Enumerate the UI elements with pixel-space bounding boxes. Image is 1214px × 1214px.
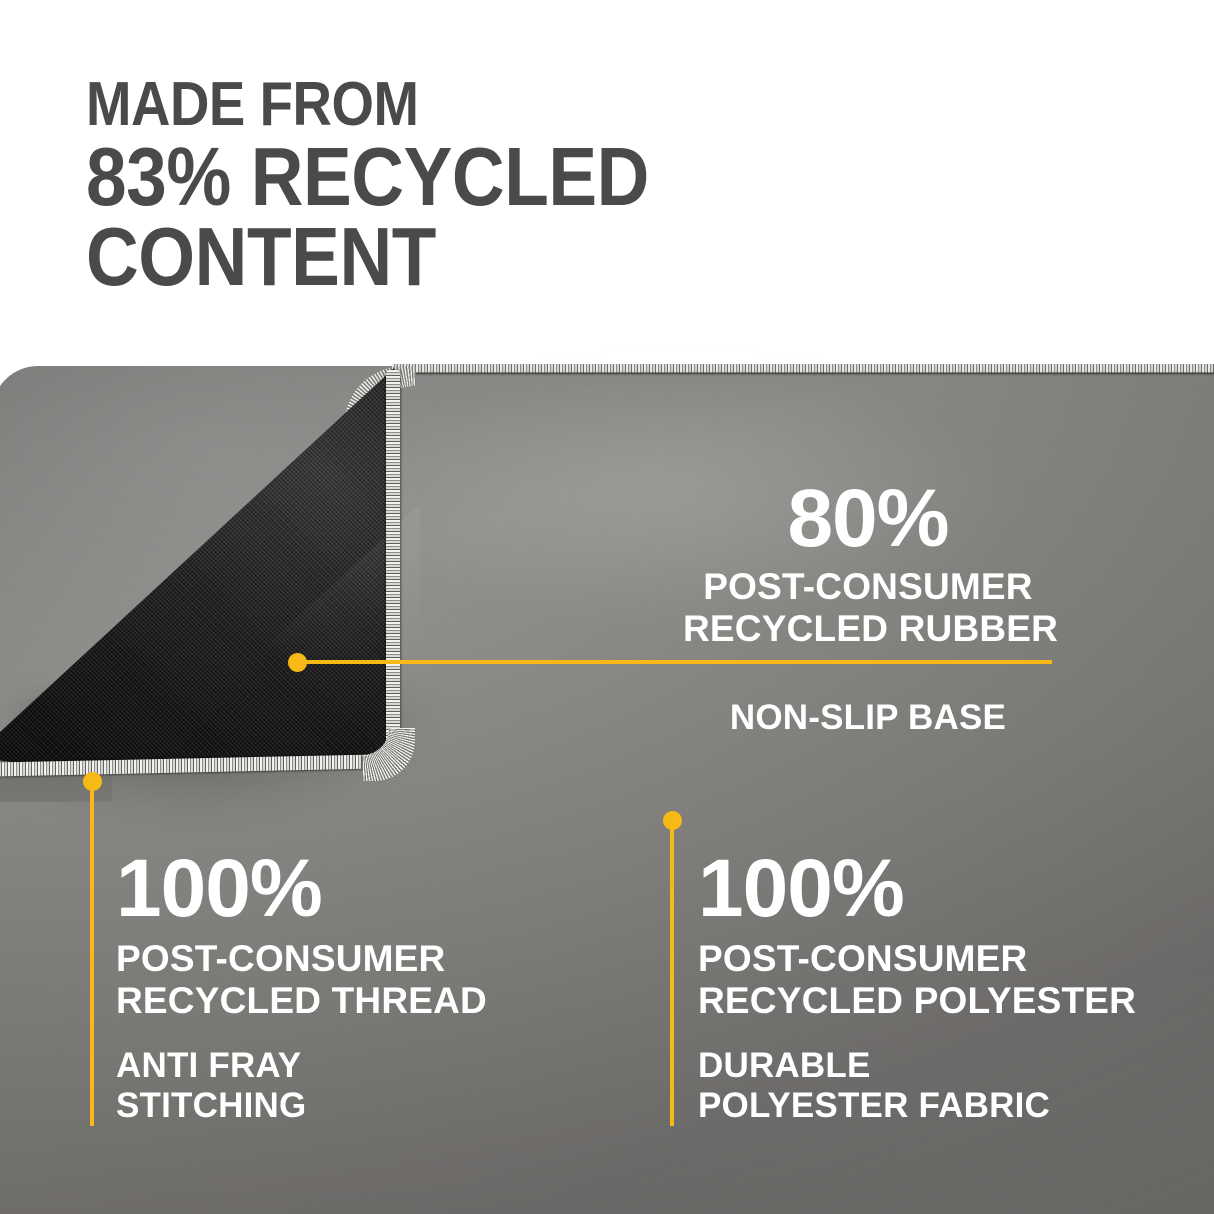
mat-top-edge-stitching	[392, 364, 1214, 373]
callout-polyester-feature: DURABLE POLYESTER FABRIC	[698, 1046, 1050, 1126]
callout-thread: 100% POST-CONSUMER RECYCLED THREAD	[116, 848, 487, 1022]
overlock-stitch-bottom-edge	[0, 754, 400, 777]
headline-line-2: 83% RECYCLED	[86, 137, 878, 217]
callout-thread-feature: ANTI FRAY STITCHING	[116, 1046, 306, 1126]
headline-line-1: MADE FROM	[86, 72, 878, 137]
callout-thread-feature-line-2: STITCHING	[116, 1086, 306, 1126]
callout-polyester-percent: 100%	[698, 848, 1136, 930]
callout-thread-material-line-1: POST-CONSUMER	[116, 938, 487, 980]
callout-rubber-percent: 80%	[683, 478, 1053, 560]
curl-drop-shadow	[20, 700, 440, 820]
flipped-corner-group	[0, 362, 420, 792]
rubber-sheen	[120, 402, 420, 702]
callout-connector-rubber	[300, 660, 1052, 664]
rubber-weave-texture	[0, 362, 420, 792]
rubber-base-underside	[0, 362, 420, 792]
callout-polyester-material-line-1: POST-CONSUMER	[698, 938, 1136, 980]
callout-polyester-feature-line-2: POLYESTER FABRIC	[698, 1086, 1050, 1126]
callout-thread-material-line-2: RECYCLED THREAD	[116, 980, 487, 1022]
callout-rubber-material-line-2: RECYCLED RUBBER	[683, 608, 1053, 650]
mat-top-edge-shade	[392, 372, 1214, 376]
callout-rubber: 80% POST-CONSUMER RECYCLED RUBBER	[683, 478, 1053, 650]
infographic-canvas: MADE FROM 83% RECYCLED CONTENT 80% POST-…	[0, 0, 1214, 1214]
callout-rubber-material-line-1: POST-CONSUMER	[683, 566, 1053, 608]
mat-corner-stitching	[344, 366, 416, 438]
overlock-stitch-right-edge	[386, 370, 400, 768]
callout-thread-feature-line-1: ANTI FRAY	[116, 1046, 306, 1086]
callout-connector-polyester	[670, 823, 674, 1126]
callout-polyester-feature-line-1: DURABLE	[698, 1046, 1050, 1086]
page-title: MADE FROM 83% RECYCLED CONTENT	[86, 72, 878, 296]
callout-rubber-feature-line-1: NON-SLIP BASE	[683, 698, 1053, 738]
callout-thread-percent: 100%	[116, 848, 487, 930]
callout-polyester-material-line-2: RECYCLED POLYESTER	[698, 980, 1136, 1022]
overlock-stitch-corner	[362, 728, 415, 781]
callout-connector-thread	[90, 784, 94, 1126]
callout-rubber-feature: NON-SLIP BASE	[683, 698, 1053, 738]
callout-polyester: 100% POST-CONSUMER RECYCLED POLYESTER	[698, 848, 1136, 1022]
headline-line-3: CONTENT	[86, 217, 878, 297]
